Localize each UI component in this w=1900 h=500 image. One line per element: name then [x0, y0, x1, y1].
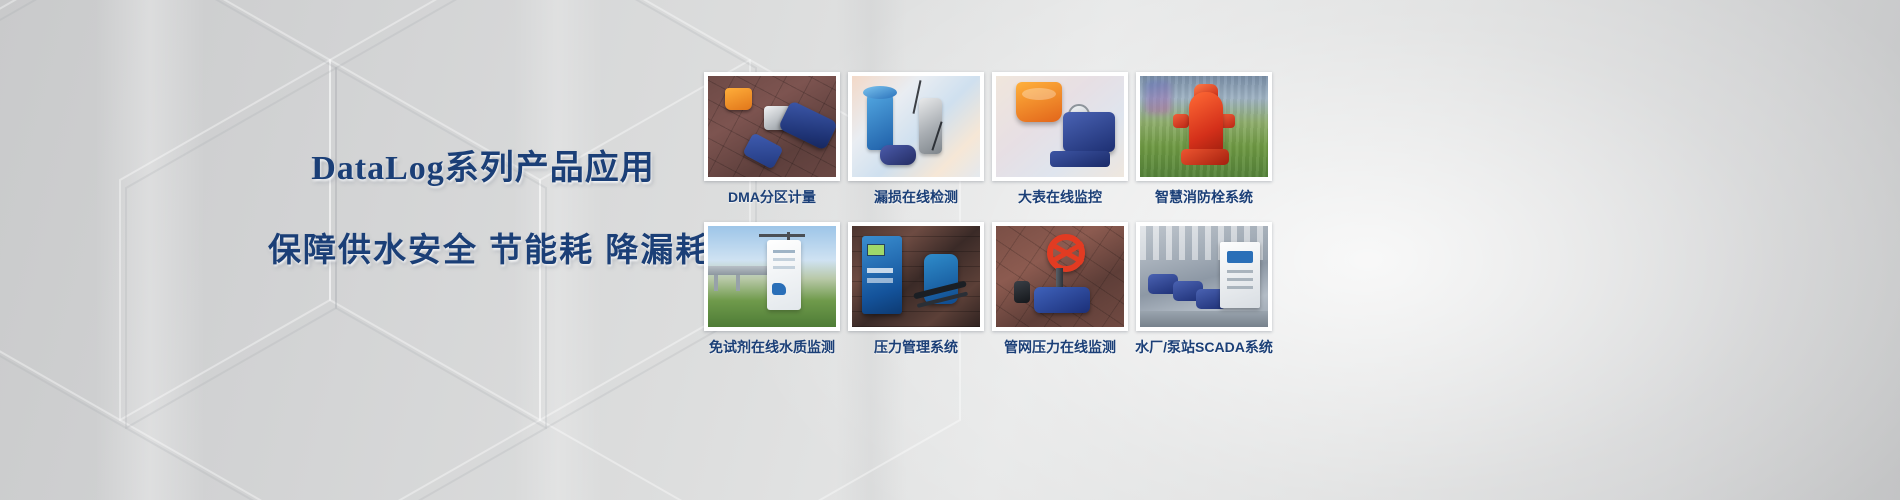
promo-banner: DataLog系列产品应用 保障供水安全 节能耗 降漏耗 DMA分区计量 漏损在…	[0, 0, 1900, 500]
thumbnail-frame[interactable]	[992, 222, 1128, 331]
gallery-item-pressure-management[interactable]: 压力管理系统	[848, 222, 984, 362]
gallery-item-caption: DMA分区计量	[728, 190, 816, 204]
gallery-item-caption: 压力管理系统	[874, 340, 958, 354]
thumbnail-frame[interactable]	[848, 222, 984, 331]
leak-logger-photo	[852, 76, 980, 177]
thumbnail-frame[interactable]	[848, 72, 984, 181]
thumbnail-frame[interactable]	[704, 222, 840, 331]
application-gallery: DMA分区计量 漏损在线检测 大表在线监控	[704, 72, 1272, 362]
gallery-item-caption: 水厂/泵站SCADA系统	[1135, 340, 1273, 354]
gallery-item-water-quality[interactable]: 免试剂在线水质监测	[704, 222, 840, 362]
pump-station-photo	[1140, 226, 1268, 327]
pipeline-valve-photo	[996, 226, 1124, 327]
gallery-item-fire-hydrant[interactable]: 智慧消防栓系统	[1136, 72, 1272, 212]
gallery-item-leak-detection[interactable]: 漏损在线检测	[848, 72, 984, 212]
gallery-item-scada[interactable]: 水厂/泵站SCADA系统	[1136, 222, 1272, 362]
banner-headline: DataLog系列产品应用 保障供水安全 节能耗 降漏耗	[268, 140, 698, 271]
background-light-sweep	[95, 0, 205, 500]
gallery-item-caption: 智慧消防栓系统	[1155, 190, 1253, 204]
thumbnail-frame[interactable]	[1136, 72, 1272, 181]
headline-line-1: DataLog系列产品应用	[268, 140, 698, 189]
headline-line-2: 保障供水安全 节能耗 降漏耗	[268, 223, 698, 271]
gallery-item-dma[interactable]: DMA分区计量	[704, 72, 840, 212]
gallery-item-large-meter[interactable]: 大表在线监控	[992, 72, 1128, 212]
large-meter-photo	[996, 76, 1124, 177]
gallery-item-caption: 免试剂在线水质监测	[709, 340, 835, 354]
pressure-cabinet-photo	[852, 226, 980, 327]
gallery-item-caption: 大表在线监控	[1018, 190, 1102, 204]
gallery-item-caption: 管网压力在线监测	[1004, 340, 1116, 354]
water-quality-pillar-photo	[708, 226, 836, 327]
gallery-item-pipeline-pressure[interactable]: 管网压力在线监测	[992, 222, 1128, 362]
dma-chamber-photo	[708, 76, 836, 177]
thumbnail-frame[interactable]	[704, 72, 840, 181]
thumbnail-frame[interactable]	[992, 72, 1128, 181]
thumbnail-frame[interactable]	[1136, 222, 1272, 331]
fire-hydrant-photo	[1140, 76, 1268, 177]
gallery-item-caption: 漏损在线检测	[874, 190, 958, 204]
